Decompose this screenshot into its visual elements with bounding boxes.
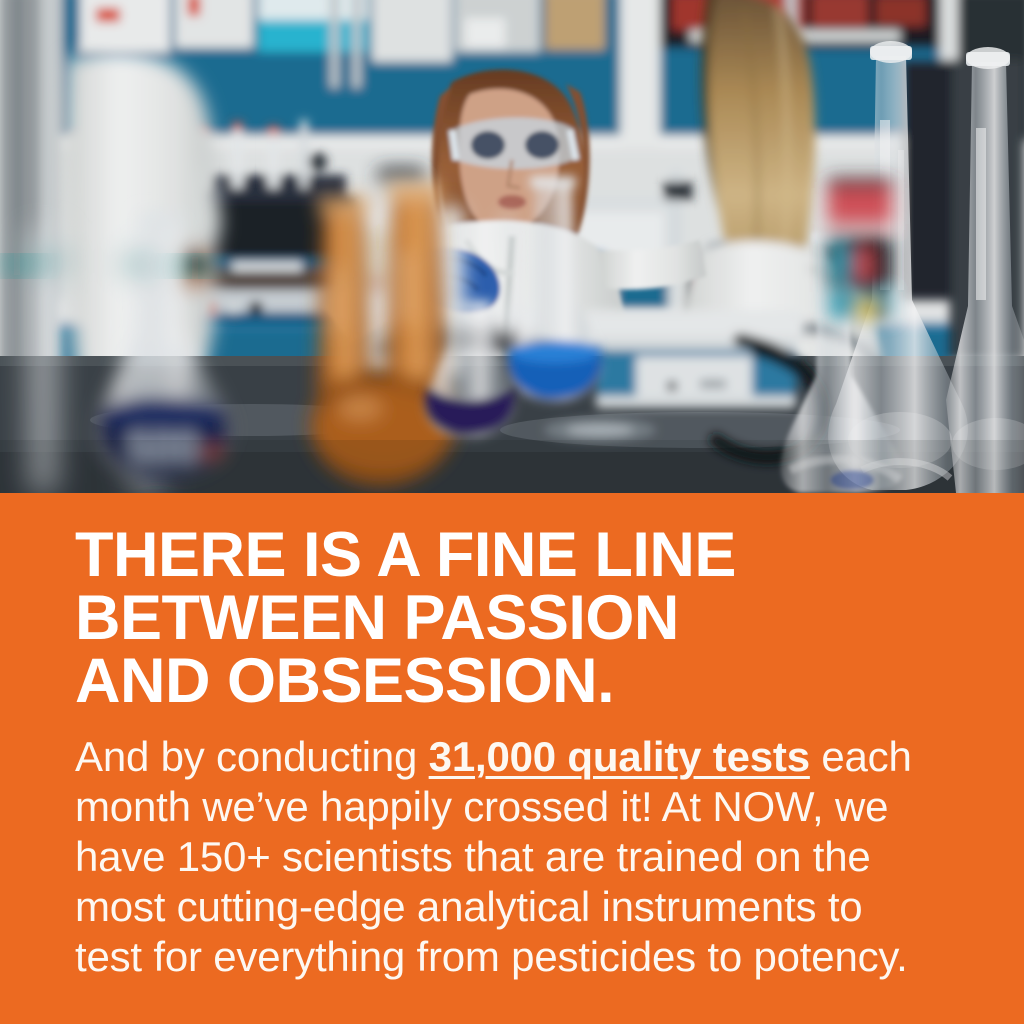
stat-highlight-tests: 31,000 quality tests: [429, 733, 810, 780]
body-line-1-pre: And by conducting: [75, 733, 429, 780]
body-line-2: month we’ve happily crossed it! At NOW, …: [75, 782, 955, 832]
promo-card: 500: [0, 0, 1024, 1024]
laboratory-photo: 500: [0, 0, 1024, 493]
headline-line-1: THERE IS A FINE LINE: [75, 524, 975, 587]
body-line-4: most cutting-edge analytical instruments…: [75, 882, 955, 932]
headline-line-2: BETWEEN PASSION: [75, 587, 975, 650]
body-copy: And by conducting 31,000 quality tests e…: [75, 732, 955, 982]
headline-line-3: AND OBSESSION.: [75, 650, 975, 713]
body-line-1-post: each: [810, 733, 912, 780]
body-line-1: And by conducting 31,000 quality tests e…: [75, 732, 955, 782]
body-line-3: have 150+ scientists that are trained on…: [75, 832, 955, 882]
headline: THERE IS A FINE LINE BETWEEN PASSION AND…: [75, 524, 975, 713]
body-line-5: test for everything from pesticides to p…: [75, 932, 955, 982]
orange-text-panel: THERE IS A FINE LINE BETWEEN PASSION AND…: [0, 493, 1024, 1024]
